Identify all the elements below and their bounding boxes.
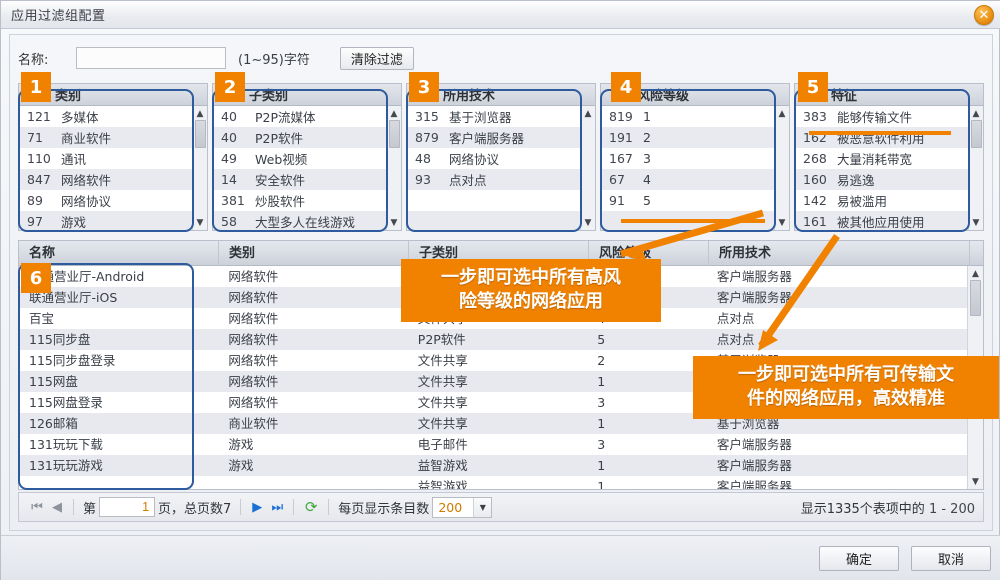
cell-subcategory: 文件共享 (408, 392, 587, 413)
callout-filetransfer-line-1: 一步即可选中所有可传输文 (703, 363, 989, 387)
first-page-icon[interactable]: ⏮ (27, 496, 47, 518)
name-row: 名称: (1~95)字符 清除过滤 (18, 45, 978, 71)
cell-category: 网络软件 (218, 392, 407, 413)
filter-list-scrollbar[interactable]: ▲ ▼ (386, 106, 401, 230)
item-count: 847 (19, 172, 61, 187)
item-label: 易被滥用 (837, 191, 968, 210)
list-item[interactable]: 71商业软件 (19, 127, 192, 148)
list-item[interactable]: 89网络协议 (19, 190, 192, 211)
item-label: 易逃逸 (837, 170, 968, 189)
item-label: 通讯 (61, 149, 192, 168)
item-label: 能够传输文件 (837, 107, 968, 126)
list-item[interactable]: 14安全软件 (213, 169, 386, 190)
filter-list-category[interactable]: 类别 121多媒体 71商业软件 110通讯 847网络软件 89网络协议 97… (18, 83, 208, 231)
item-label: 4 (643, 172, 774, 187)
filter-list-scrollbar[interactable]: ▲ ▼ (580, 106, 595, 230)
table-row[interactable]: 115同步盘网络软件P2P软件5点对点 (19, 329, 967, 350)
item-label: 多媒体 (61, 107, 192, 126)
item-count: 89 (19, 193, 61, 208)
cell-name: 126邮箱 (19, 413, 218, 434)
item-count: 879 (407, 130, 449, 145)
cell-name: 115网盘登录 (19, 392, 218, 413)
item-label: Web视频 (255, 149, 386, 168)
filter-list-technology[interactable]: 所用技术 315基于浏览器 879客户端服务器 48网络协议 93点对点 ▲ ▼ (406, 83, 596, 231)
list-item[interactable]: 93点对点 (407, 169, 580, 190)
cell-technology: 客户端服务器 (707, 434, 967, 455)
dialog-footer: 确定 取消 (1, 535, 1000, 580)
pagination-bar: ⏮ ◀ 第 页，总页数7 ▶ ⏭ ⟳ 每页显示条目数 200 ▼ 显示1335个… (18, 492, 984, 522)
filter-list-rows: 315基于浏览器 879客户端服务器 48网络协议 93点对点 (407, 106, 580, 230)
cell-category (218, 476, 407, 489)
table-row[interactable]: 131玩玩游戏游戏益智游戏1客户端服务器 (19, 455, 967, 476)
table-row[interactable]: 131玩玩下载游戏电子邮件3客户端服务器 (19, 434, 967, 455)
callout-risk-line-2: 险等级的网络应用 (411, 290, 651, 314)
cell-risk: 1 (587, 476, 707, 489)
cell-technology: 点对点 (707, 308, 967, 329)
cell-risk: 2 (587, 350, 707, 371)
item-label: 2 (643, 130, 774, 145)
callout-filetransfer: 一步即可选中所有可传输文 件的网络应用，高效精准 (693, 356, 999, 419)
cell-technology: 客户端服务器 (707, 266, 967, 287)
item-label: 安全软件 (255, 170, 386, 189)
page-total-label: 页，总页数7 (158, 498, 231, 517)
cell-category: 游戏 (218, 434, 407, 455)
cell-risk: 3 (587, 392, 707, 413)
page-number-input[interactable] (99, 497, 155, 517)
record-summary-text: 显示1335个表项中的 (801, 502, 925, 517)
cell-name: 百宝 (19, 308, 218, 329)
filter-list-characteristics[interactable]: 特征 383能够传输文件 162被恶意软件利用 268大量消耗带宽 160易逃逸… (794, 83, 984, 231)
item-label: 被其他应用使用 (837, 212, 968, 230)
item-count: 819 (601, 109, 643, 124)
filter-list-rows: 40P2P流媒体 40P2P软件 49Web视频 14安全软件 381炒股软件 … (213, 106, 386, 230)
badge-5: 5 (798, 72, 828, 102)
item-count: 161 (795, 214, 837, 229)
list-item[interactable]: 315基于浏览器 (407, 106, 580, 127)
item-label: 3 (643, 151, 774, 166)
list-item[interactable]: 48网络协议 (407, 148, 580, 169)
list-item[interactable]: 40P2P软件 (213, 127, 386, 148)
item-count: 121 (19, 109, 61, 124)
badge-2: 2 (215, 72, 245, 102)
scroll-down-icon[interactable]: ▼ (970, 216, 983, 229)
filter-list-scrollbar[interactable]: ▲ ▼ (968, 106, 983, 230)
cell-category: 网络软件 (218, 266, 407, 287)
close-icon[interactable]: ✕ (974, 5, 994, 25)
cell-category: 游戏 (218, 455, 407, 476)
length-hint: (1~95)字符 (238, 49, 310, 68)
cell-name: 115同步盘 (19, 329, 218, 350)
item-label: P2P流媒体 (255, 107, 386, 126)
table-row[interactable]: 益智游戏1客户端服务器 (19, 476, 967, 489)
name-input[interactable] (76, 47, 226, 69)
cell-risk: 1 (587, 413, 707, 434)
cell-technology: 客户端服务器 (707, 455, 967, 476)
item-label: 1 (643, 109, 774, 124)
item-label: 点对点 (449, 170, 580, 189)
item-count: 383 (795, 109, 837, 124)
cell-risk: 5 (587, 329, 707, 350)
item-count: 110 (19, 151, 61, 166)
item-label: 客户端服务器 (449, 128, 580, 147)
list-item[interactable]: 97游戏 (19, 211, 192, 230)
record-summary: 显示1335个表项中的 1 - 200 (801, 498, 975, 517)
list-item[interactable]: 879客户端服务器 (407, 127, 580, 148)
item-label: 游戏 (61, 212, 192, 230)
callout-risk-line-1: 一步即可选中所有高风 (411, 266, 651, 290)
cell-category: 网络软件 (218, 350, 407, 371)
list-item[interactable]: 381炒股软件 (213, 190, 386, 211)
item-count: 58 (213, 214, 255, 229)
page-size-value: 200 (438, 500, 462, 515)
risk-underline (621, 219, 765, 223)
scroll-up-icon[interactable]: ▲ (969, 267, 982, 280)
cell-name: 115同步盘登录 (19, 350, 218, 371)
list-item[interactable] (407, 190, 580, 211)
page-size-select[interactable]: 200 ▼ (432, 497, 492, 518)
list-item[interactable]: 160易逃逸 (795, 169, 968, 190)
scroll-down-icon[interactable]: ▼ (388, 216, 401, 229)
badge-4: 4 (611, 72, 641, 102)
list-item[interactable]: 142易被滥用 (795, 190, 968, 211)
cell-risk: 1 (587, 455, 707, 476)
badge-6: 6 (21, 263, 51, 293)
record-summary-range: 1 - 200 (929, 502, 975, 517)
scroll-up-icon[interactable]: ▲ (776, 107, 789, 120)
item-label: 网络协议 (61, 191, 192, 210)
list-item[interactable]: 674 (601, 169, 774, 190)
badge-1: 1 (21, 72, 51, 102)
filter-list-scrollbar[interactable]: ▲ ▼ (774, 106, 789, 230)
list-item[interactable]: 1912 (601, 127, 774, 148)
next-page-icon[interactable]: ▶ (247, 496, 267, 518)
chevron-down-icon[interactable]: ▼ (473, 498, 491, 517)
scroll-down-icon[interactable]: ▼ (582, 216, 595, 229)
scroll-down-icon[interactable]: ▼ (969, 475, 982, 488)
list-item[interactable]: 161被其他应用使用 (795, 211, 968, 230)
cell-name: 115网盘 (19, 371, 218, 392)
cell-name: 131玩玩下载 (19, 434, 218, 455)
feature-underline (809, 131, 951, 135)
scrollbar-thumb[interactable] (971, 120, 982, 148)
cell-subcategory: 文件共享 (408, 413, 587, 434)
scrollbar-thumb[interactable] (389, 120, 400, 148)
filter-list-scrollbar[interactable]: ▲ ▼ (192, 106, 207, 230)
cancel-button[interactable]: 取消 (911, 546, 991, 571)
clear-filter-button[interactable]: 清除过滤 (340, 47, 414, 70)
page-prefix-label: 第 (83, 498, 96, 517)
item-count: 160 (795, 172, 837, 187)
app-window: 应用过滤组配置 ✕ 名称: (1~95)字符 清除过滤 类别 121多媒体 71… (0, 0, 1000, 580)
ok-button[interactable]: 确定 (819, 546, 899, 571)
cell-technology: 点对点 (707, 329, 967, 350)
cell-subcategory: 文件共享 (408, 350, 587, 371)
cell-category: 网络软件 (218, 329, 407, 350)
list-item[interactable]: 268大量消耗带宽 (795, 148, 968, 169)
filter-list-subcategory[interactable]: 子类别 40P2P流媒体 40P2P软件 49Web视频 14安全软件 381炒… (212, 83, 402, 231)
filter-list-rows: 8191 1912 1673 674 915 (601, 106, 774, 230)
list-item[interactable]: 110通讯 (19, 148, 192, 169)
item-count: 268 (795, 151, 837, 166)
item-count: 97 (19, 214, 61, 229)
badge-3: 3 (409, 72, 439, 102)
item-label: 基于浏览器 (449, 107, 580, 126)
list-item[interactable]: 58大型多人在线游戏 (213, 211, 386, 230)
cell-name (19, 476, 218, 489)
name-label: 名称: (18, 49, 76, 68)
scroll-down-icon[interactable]: ▼ (194, 216, 207, 229)
prev-page-icon[interactable]: ◀ (47, 496, 67, 518)
cell-subcategory: 益智游戏 (408, 476, 587, 489)
list-item[interactable]: 8191 (601, 106, 774, 127)
scroll-up-icon[interactable]: ▲ (970, 107, 983, 120)
scrollbar-thumb[interactable] (970, 280, 981, 316)
list-item[interactable] (407, 211, 580, 230)
cell-technology: 客户端服务器 (707, 476, 967, 489)
cell-category: 网络软件 (218, 371, 407, 392)
cell-subcategory: 电子邮件 (408, 434, 587, 455)
list-item[interactable]: 40P2P流媒体 (213, 106, 386, 127)
callout-filetransfer-line-2: 件的网络应用，高效精准 (703, 387, 989, 411)
filter-lists: 类别 121多媒体 71商业软件 110通讯 847网络软件 89网络协议 97… (18, 83, 984, 231)
item-count: 48 (407, 151, 449, 166)
column-header-technology[interactable]: 所用技术 (709, 241, 970, 266)
item-label: 大量消耗带宽 (837, 149, 968, 168)
column-header-category[interactable]: 类别 (219, 241, 409, 266)
list-item[interactable]: 49Web视频 (213, 148, 386, 169)
cell-subcategory: 益智游戏 (408, 455, 587, 476)
item-label: P2P软件 (255, 128, 386, 147)
item-count: 191 (601, 130, 643, 145)
list-item[interactable]: 121多媒体 (19, 106, 192, 127)
cell-name: 131玩玩游戏 (19, 455, 218, 476)
list-item[interactable]: 383能够传输文件 (795, 106, 968, 127)
scroll-down-icon[interactable]: ▼ (776, 216, 789, 229)
scroll-up-icon[interactable]: ▲ (194, 107, 207, 120)
item-count: 315 (407, 109, 449, 124)
item-count: 40 (213, 109, 255, 124)
title-bar: 应用过滤组配置 ✕ (1, 1, 1000, 29)
item-label: 网络协议 (449, 149, 580, 168)
item-count: 49 (213, 151, 255, 166)
item-count: 93 (407, 172, 449, 187)
cell-subcategory: 文件共享 (408, 371, 587, 392)
scroll-up-icon[interactable]: ▲ (388, 107, 401, 120)
item-count: 381 (213, 193, 255, 208)
item-count: 91 (601, 193, 643, 208)
cell-subcategory: P2P软件 (408, 329, 587, 350)
list-item[interactable]: 915 (601, 190, 774, 211)
item-count: 142 (795, 193, 837, 208)
item-label: 炒股软件 (255, 191, 386, 210)
item-count: 67 (601, 172, 643, 187)
cell-technology: 客户端服务器 (707, 287, 967, 308)
filter-list-rows: 121多媒体 71商业软件 110通讯 847网络软件 89网络协议 97游戏 (19, 106, 192, 230)
item-count: 14 (213, 172, 255, 187)
cell-category: 网络软件 (218, 308, 407, 329)
scrollbar-thumb[interactable] (195, 120, 206, 148)
list-item[interactable]: 847网络软件 (19, 169, 192, 190)
item-count: 167 (601, 151, 643, 166)
list-item[interactable]: 1673 (601, 148, 774, 169)
last-page-icon[interactable]: ⏭ (267, 496, 287, 518)
item-label: 大型多人在线游戏 (255, 212, 386, 230)
item-label: 商业软件 (61, 128, 192, 147)
item-count: 40 (213, 130, 255, 145)
page-size-label: 每页显示条目数 (338, 498, 429, 517)
callout-risk: 一步即可选中所有高风 险等级的网络应用 (401, 259, 661, 322)
filter-list-rows: 383能够传输文件 162被恶意软件利用 268大量消耗带宽 160易逃逸 14… (795, 106, 968, 230)
cell-risk: 1 (587, 371, 707, 392)
filter-list-risk-level[interactable]: 风险等级 8191 1912 1673 674 915 ▲ ▼ (600, 83, 790, 231)
item-label: 5 (643, 193, 774, 208)
window-title: 应用过滤组配置 (11, 5, 106, 24)
refresh-icon[interactable]: ⟳ (300, 496, 322, 518)
cell-risk: 3 (587, 434, 707, 455)
cell-category: 商业软件 (218, 413, 407, 434)
column-header-name[interactable]: 名称 (19, 241, 219, 266)
scroll-up-icon[interactable]: ▲ (582, 107, 595, 120)
cell-category: 网络软件 (218, 287, 407, 308)
item-count: 71 (19, 130, 61, 145)
item-label: 网络软件 (61, 170, 192, 189)
